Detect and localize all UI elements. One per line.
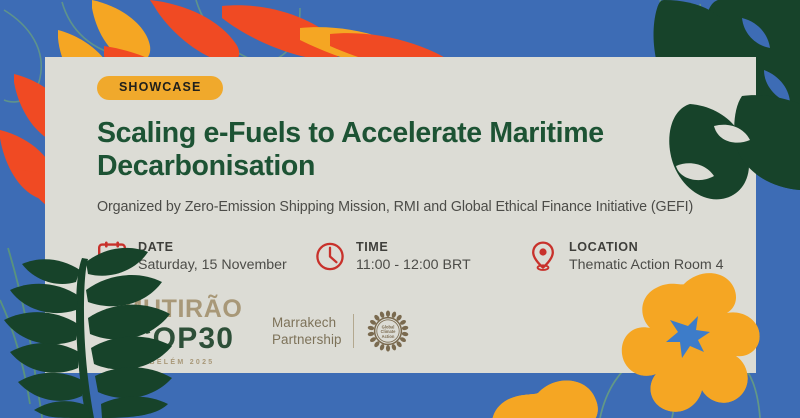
detail-location-label: LOCATION: [569, 240, 724, 254]
event-poster: SHOWCASE Scaling e-Fuels to Accelerate M…: [0, 0, 800, 418]
calendar-icon: [97, 240, 127, 272]
marrakech-line-1: Marrakech: [272, 314, 342, 331]
cop30-logo: MUTIRÃO COP30 BELÉM 2025: [116, 297, 248, 366]
gca-line-3: Action: [381, 334, 394, 339]
detail-time-label: TIME: [356, 240, 471, 254]
detail-location: LOCATION Thematic Action Room 4: [528, 239, 724, 276]
detail-location-value: Thematic Action Room 4: [569, 256, 724, 275]
location-pin-icon: [528, 240, 558, 272]
marrakech-partnership-logo: Marrakech Partnership Global Climate Act…: [272, 308, 411, 354]
event-card: SHOWCASE Scaling e-Fuels to Accelerate M…: [45, 57, 756, 373]
showcase-badge: SHOWCASE: [97, 76, 223, 100]
card-content: SHOWCASE Scaling e-Fuels to Accelerate M…: [97, 76, 757, 276]
fern-frond-back: [0, 248, 42, 418]
detail-date: DATE Saturday, 15 November: [97, 239, 315, 276]
cop30-text: COP30: [116, 323, 248, 355]
cop30-mutirao-text: MUTIRÃO: [116, 297, 248, 322]
detail-time-value: 11:00 - 12:00 BRT: [356, 256, 471, 275]
logo-row: MUTIRÃO COP30 BELÉM 2025 Marrakech Partn…: [116, 297, 411, 366]
clock-icon: [315, 240, 345, 272]
event-organizers: Organized by Zero-Emission Shipping Miss…: [97, 198, 757, 217]
cop30-belem-text: BELÉM 2025: [116, 359, 248, 366]
detail-location-text: LOCATION Thematic Action Room 4: [569, 239, 724, 276]
marrakech-line-2: Partnership: [272, 331, 342, 348]
global-climate-action-emblem: Global Climate Action: [365, 308, 411, 354]
marrakech-partnership-text: Marrakech Partnership: [272, 314, 354, 348]
detail-time-text: TIME 11:00 - 12:00 BRT: [356, 239, 471, 276]
detail-date-text: DATE Saturday, 15 November: [138, 239, 287, 276]
detail-time: TIME 11:00 - 12:00 BRT: [315, 239, 528, 276]
event-title: Scaling e-Fuels to Accelerate Maritime D…: [97, 117, 697, 185]
detail-date-label: DATE: [138, 240, 287, 254]
event-details: DATE Saturday, 15 November TIME 11:0: [97, 239, 757, 276]
detail-date-value: Saturday, 15 November: [138, 256, 287, 275]
